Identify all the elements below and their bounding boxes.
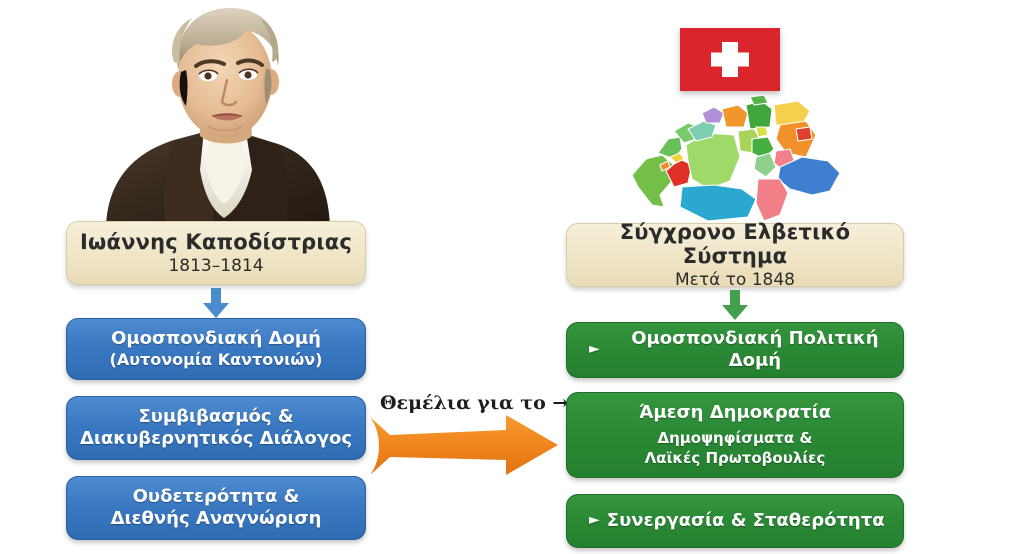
- link-arrow-orange: [368, 415, 560, 477]
- right-item-card-3[interactable]: ► Συνεργασία & Σταθερότητα: [566, 494, 904, 548]
- swiss-cantons-map-icon: [630, 95, 850, 223]
- left-header-subtitle: 1813–1814: [168, 257, 263, 277]
- left-item-card-2[interactable]: Συμβιβασμός & Διακυβερνητικός Διάλογος: [66, 396, 366, 460]
- right-item-2-line1: Άμεση Δημοκρατία: [639, 402, 831, 424]
- right-item-3-line1: Συνεργασία & Σταθερότητα: [607, 510, 885, 532]
- left-item-2-line1: Συμβιβασμός &: [138, 406, 293, 428]
- left-item-1-line1: Ομοσπονδιακή Δομή: [111, 328, 321, 350]
- left-item-card-1[interactable]: Ομοσπονδιακή Δομή (Αυτονομία Καντονιών): [66, 318, 366, 380]
- triangle-right-icon: ►: [589, 342, 600, 356]
- diagram-canvas: Ιωάννης Καποδίστριας 1813–1814 Ομοσπονδι…: [0, 0, 1020, 554]
- right-header-title: Σύγχρονο Ελβετικό Σύστημα: [567, 220, 903, 268]
- left-item-1-line2: (Αυτονομία Καντονιών): [110, 350, 323, 370]
- left-header-card[interactable]: Ιωάννης Καποδίστριας 1813–1814: [66, 221, 366, 285]
- swiss-flag-icon: [680, 28, 780, 91]
- triangle-right-icon: ►: [589, 513, 600, 527]
- left-connector-down-arrow: [203, 288, 229, 318]
- left-header-title: Ιωάννης Καποδίστριας: [80, 230, 352, 254]
- left-item-3-line2: Διεθνής Αναγνώριση: [111, 508, 322, 530]
- left-item-3-line1: Ουδετερότητα &: [133, 486, 300, 508]
- left-item-2-line2: Διακυβερνητικός Διάλογος: [80, 428, 352, 450]
- right-item-1-line1: Ομοσπονδιακή Πολιτική Δομή: [607, 328, 903, 371]
- portrait-kapodistrias: [96, 0, 334, 226]
- right-item-2-sub1: Δημοψηφίσματα &: [657, 429, 812, 449]
- right-header-subtitle: Μετά το 1848: [675, 271, 795, 291]
- right-connector-down-arrow: [722, 290, 748, 320]
- right-header-card[interactable]: Σύγχρονο Ελβετικό Σύστημα Μετά το 1848: [566, 223, 904, 287]
- link-arrow-label: Θεμέλια για το →: [380, 392, 568, 414]
- left-item-card-3[interactable]: Ουδετερότητα & Διεθνής Αναγνώριση: [66, 476, 366, 540]
- right-item-2-sub2: Λαϊκές Πρωτοβουλίες: [645, 449, 826, 469]
- right-item-card-1[interactable]: ► Ομοσπονδιακή Πολιτική Δομή: [566, 322, 904, 378]
- right-item-card-2[interactable]: Άμεση Δημοκρατία Δημοψηφίσματα & Λαϊκές …: [566, 392, 904, 478]
